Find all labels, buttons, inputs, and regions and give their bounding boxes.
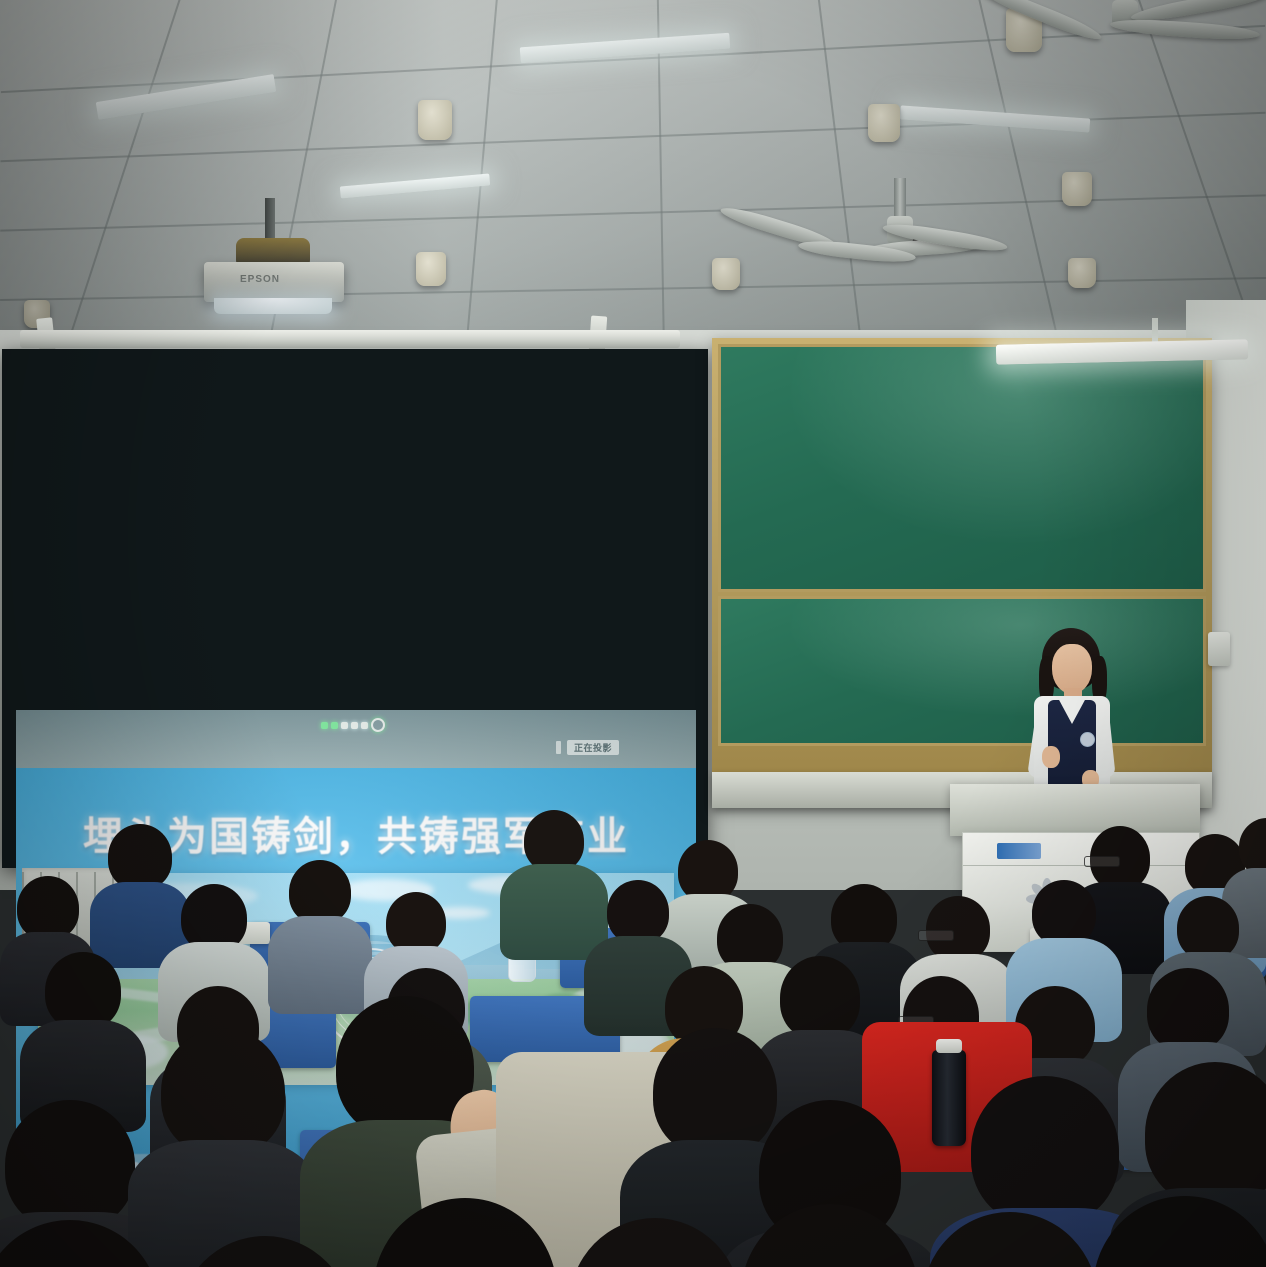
- projector-pole: [265, 198, 275, 260]
- ceiling-speaker: [712, 258, 740, 290]
- ceiling-speaker: [1062, 172, 1092, 206]
- ceiling-panel-light: [520, 33, 731, 64]
- blackboard-panel-upper: [718, 344, 1206, 592]
- projector-brand-label: EPSON: [240, 274, 280, 285]
- projector-bracket: [236, 238, 310, 268]
- status-bar-icon: [556, 741, 561, 754]
- presenter-face: [1052, 644, 1092, 694]
- projector-source-toolbar: 正在投影: [16, 710, 696, 768]
- ceiling-fan: [700, 178, 1100, 298]
- presenter-hand-left: [1042, 746, 1060, 768]
- blackboard-panel-lower: [718, 596, 1206, 746]
- presenter-badge: [1080, 732, 1095, 747]
- presenter: [1012, 628, 1130, 796]
- ceiling-speaker: [416, 252, 446, 286]
- projector-lens: [214, 298, 332, 314]
- ceiling-speaker: [1068, 258, 1096, 288]
- audience-member: [1050, 1196, 1266, 1267]
- lecture-hall-photo: EPSON 正在投影 埋头为国铸剑，共铸强军伟业: [0, 0, 1266, 1267]
- ceiling-speaker: [868, 104, 900, 142]
- recording-indicator: [321, 718, 385, 732]
- wall-switch[interactable]: [1208, 632, 1230, 666]
- ceiling-speaker: [418, 100, 452, 140]
- projector-body: EPSON: [204, 262, 344, 302]
- projection-status-label: 正在投影: [567, 740, 619, 755]
- projection-screen: 正在投影 埋头为国铸剑，共铸强军伟业: [2, 349, 708, 868]
- ceiling-fan: [960, 0, 1266, 80]
- ceiling-panel-light: [900, 105, 1091, 132]
- thermos-cap: [936, 1039, 962, 1053]
- audience: TIGA: [0, 800, 1266, 1267]
- dome-camera-icon: [908, 228, 942, 250]
- blackboard: [712, 338, 1212, 808]
- ceiling-panel-light: [340, 173, 490, 198]
- ceiling-speaker: [1006, 8, 1042, 52]
- ceiling-panel-light: [96, 74, 277, 120]
- ceiling-tile-grid: [0, 0, 1266, 360]
- blackboard-frame: [712, 338, 1212, 808]
- ceiling: EPSON: [0, 0, 1266, 360]
- projection-status-pill: 正在投影: [556, 740, 619, 755]
- screen-roller: [20, 330, 680, 348]
